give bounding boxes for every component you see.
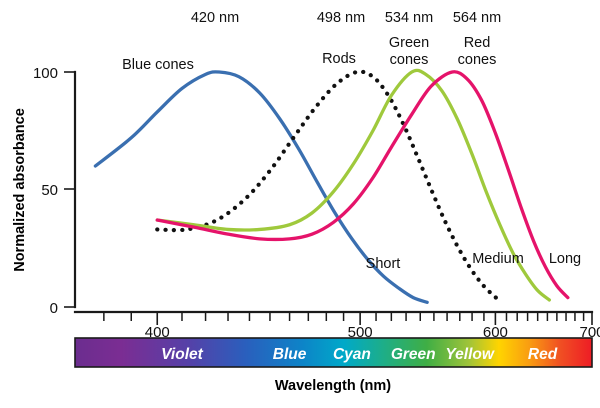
peak-name-blue-cones: Blue cones	[122, 57, 194, 73]
spectrum-band-label-red: Red	[528, 346, 558, 363]
absorbance-spectrum-figure: 100 50 0 Normalized absorbance 400500600…	[0, 0, 600, 408]
spectrum-band-label-blue: Blue	[273, 346, 307, 363]
spectrum-bar: VioletBlueCyanGreenYellowRed	[75, 338, 592, 367]
y-tick-label-50: 50	[41, 182, 58, 199]
curve-label-short: Short	[366, 256, 401, 272]
peak-name-rods: Rods	[322, 51, 356, 67]
peak-name-red-cones-line2: cones	[458, 52, 497, 68]
y-tick-label-0: 0	[50, 300, 58, 317]
curve-label-long: Long	[549, 251, 581, 267]
peak-name-red-cones-line1: Red	[464, 35, 491, 51]
peak-wavelength-green: 534 nm	[385, 10, 433, 26]
peak-wavelength-red: 564 nm	[453, 10, 501, 26]
peak-wavelength-rods: 498 nm	[317, 10, 365, 26]
x-axis-title: Wavelength (nm)	[275, 378, 391, 394]
spectrum-band-label-violet: Violet	[161, 346, 203, 363]
spectrum-band-label-green: Green	[391, 346, 436, 363]
spectrum-band-label-cyan: Cyan	[333, 346, 371, 363]
curve-label-medium: Medium	[472, 251, 524, 267]
spectrum-band-label-yellow: Yellow	[445, 346, 494, 363]
peak-name-green-cones-line2: cones	[390, 52, 429, 68]
y-tick-label-100: 100	[33, 65, 58, 82]
peak-name-green-cones-line1: Green	[389, 35, 429, 51]
peak-wavelength-blue: 420 nm	[191, 10, 239, 26]
y-axis-title: Normalized absorbance	[12, 108, 28, 272]
